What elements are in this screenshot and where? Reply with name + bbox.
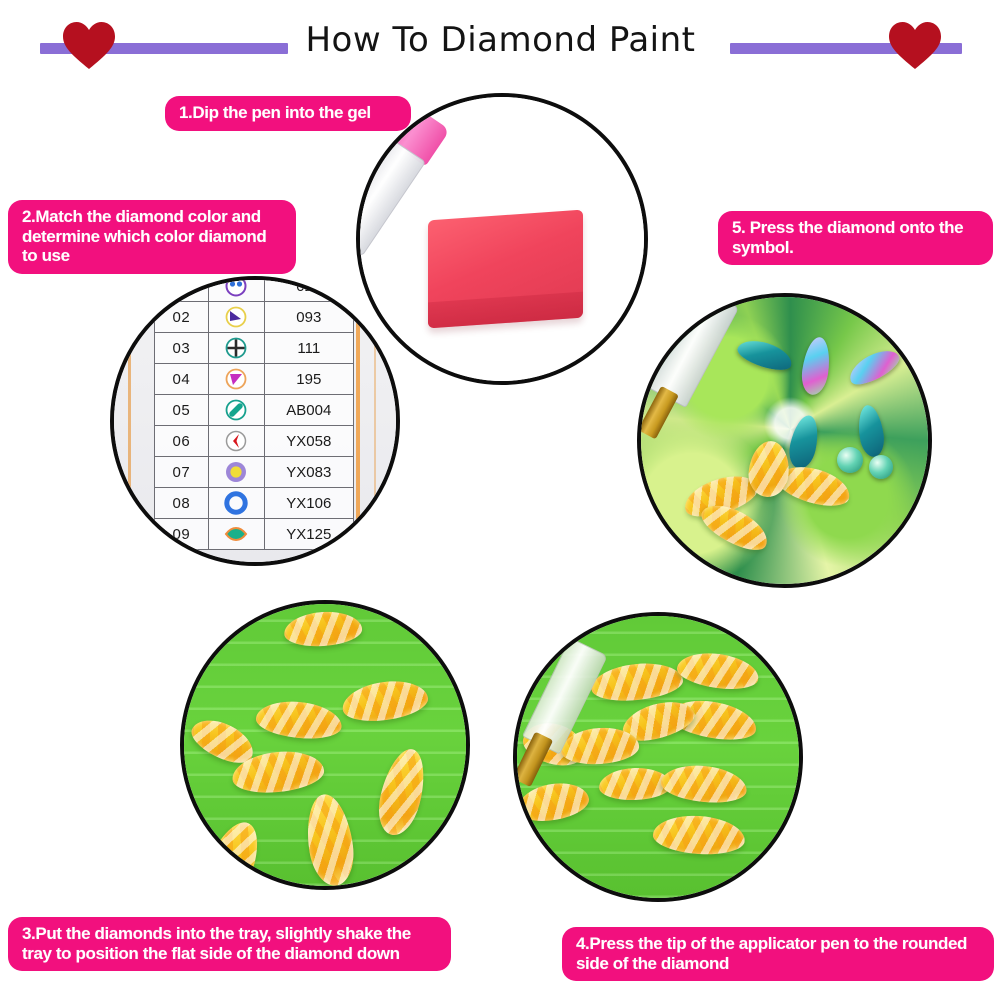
row-number: 05 (155, 395, 209, 426)
canvas-gem (869, 455, 893, 479)
header: How To Diamond Paint (0, 0, 1001, 80)
row-code: 111 (264, 333, 353, 364)
table-row: 02 093 (155, 302, 354, 333)
pen-tip (513, 732, 553, 788)
step-3-photo (180, 600, 470, 890)
row-number: 09 (155, 519, 209, 550)
table-row: 028 (155, 276, 354, 302)
teal-slash-symbol (208, 395, 264, 426)
double-dot-circle-symbol (208, 276, 264, 302)
row-code: YX106 (264, 488, 353, 519)
pen-tip (356, 232, 357, 276)
row-number: 03 (155, 333, 209, 364)
blue-ring-symbol (208, 488, 264, 519)
row-code: YX058 (264, 426, 353, 457)
table-row: 05 AB004 (155, 395, 354, 426)
row-number (155, 276, 209, 302)
purple-triangle-symbol (208, 302, 264, 333)
red-chevron-symbol (208, 426, 264, 457)
plus-symbol (208, 333, 264, 364)
step-4-label: 4.Press the tip of the applicator pen to… (562, 927, 994, 981)
row-number: 08 (155, 488, 209, 519)
sheet-edge-right-secondary (374, 280, 376, 562)
table-row: 08 YX106 (155, 488, 354, 519)
color-chart-table: 028 02 093 03 111 (154, 276, 354, 550)
table-row: 04 195 (155, 364, 354, 395)
row-number: 07 (155, 457, 209, 488)
page-title: How To Diamond Paint (0, 20, 1001, 60)
green-leaf-symbol (208, 519, 264, 550)
row-code: YX125 (264, 519, 353, 550)
row-number: 06 (155, 426, 209, 457)
sheet-edge-right (356, 280, 360, 562)
table-row: 09 YX125 (155, 519, 354, 550)
step-5-photo (637, 293, 932, 588)
canvas-gem (837, 447, 863, 473)
row-number: 04 (155, 364, 209, 395)
step-5-label: 5. Press the diamond onto the symbol. (718, 211, 993, 265)
row-code: 028 (264, 276, 353, 302)
row-number: 02 (155, 302, 209, 333)
yellow-dot-ring-symbol (208, 457, 264, 488)
step-2-photo: 028 02 093 03 111 (110, 276, 400, 566)
row-code: 093 (264, 302, 353, 333)
step-3-label: 3.Put the diamonds into the tray, slight… (8, 917, 451, 971)
how-to-diamond-paint-infographic: How To Diamond Paint 1.Dip the pen into … (0, 0, 1001, 1001)
step-2-label: 2.Match the diamond color and determine … (8, 200, 296, 274)
table-row: 07 YX083 (155, 457, 354, 488)
row-code: AB004 (264, 395, 353, 426)
step-1-photo (356, 93, 648, 385)
gel-pad (428, 210, 583, 329)
row-code: 195 (264, 364, 353, 395)
table-row: 06 YX058 (155, 426, 354, 457)
row-code: YX083 (264, 457, 353, 488)
table-row: 03 111 (155, 333, 354, 364)
pen-tip (638, 386, 679, 440)
sheet-edge-left (128, 280, 131, 562)
magenta-triangle-symbol (208, 364, 264, 395)
step-4-photo (513, 612, 803, 902)
